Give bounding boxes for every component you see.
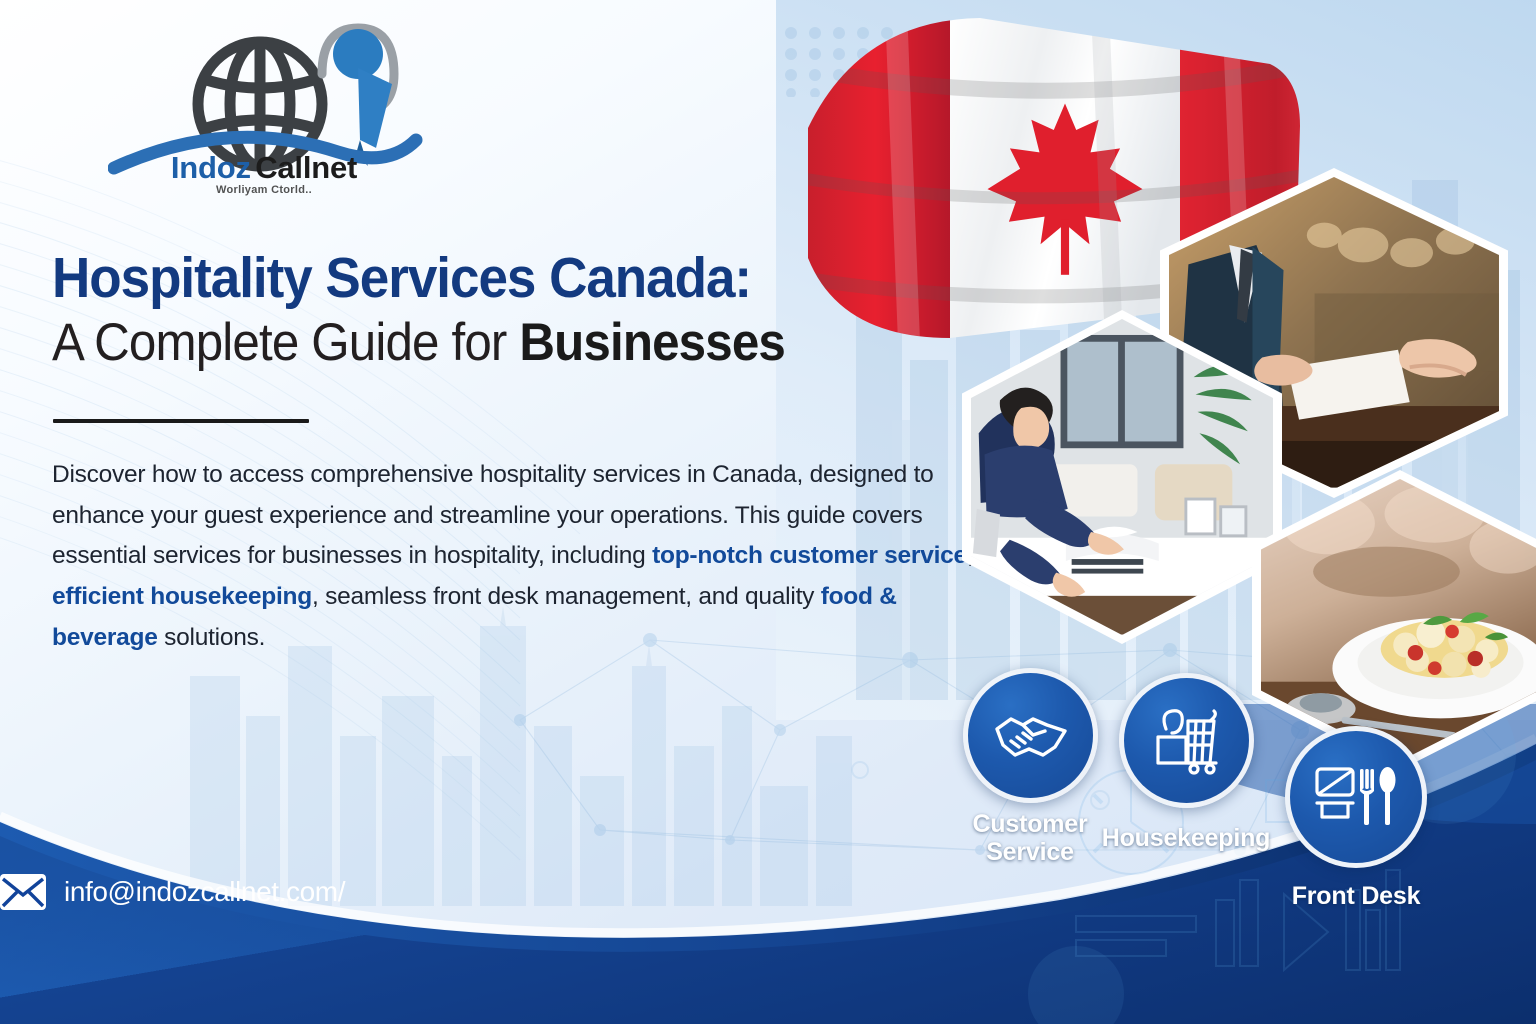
logo-name-primary: Indoz bbox=[171, 150, 251, 185]
highlight-customer-service: top-notch customer service bbox=[652, 542, 967, 569]
body-text-4: solutions. bbox=[158, 624, 266, 651]
logo-name-secondary: Callnet bbox=[255, 150, 357, 185]
headline-line-1: Hospitality Services Canada: bbox=[52, 248, 852, 308]
body-text-3: , seamless front desk management, and qu… bbox=[312, 583, 821, 610]
logo-wordmark: Indoz Callnet Worliyam Ctorld.. bbox=[114, 152, 414, 196]
cleaning-cart-icon bbox=[1150, 705, 1224, 777]
housekeeping-circle bbox=[1119, 673, 1254, 808]
food-beverage-photo bbox=[1252, 470, 1536, 770]
headline-line-2-strong: Businesses bbox=[519, 313, 785, 372]
service-badge-housekeeping[interactable]: Housekeeping bbox=[1119, 673, 1286, 852]
title-divider-rule bbox=[53, 419, 309, 423]
company-logo[interactable]: Indoz Callnet Worliyam Ctorld.. bbox=[108, 12, 428, 212]
contact-email[interactable]: info@indozcallnet.com/ bbox=[0, 874, 1536, 910]
front-desk-circle bbox=[1285, 726, 1427, 868]
poster-canvas: Indoz Callnet Worliyam Ctorld.. Hospital… bbox=[0, 0, 1536, 1024]
headline-line-2: A Complete Guide for Businesses bbox=[52, 314, 852, 371]
customer-service-circle bbox=[963, 668, 1098, 803]
headline-line-2-normal: A Complete Guide for bbox=[52, 313, 519, 372]
housekeeping-photo-art bbox=[971, 319, 1273, 635]
housekeeping-label: Housekeeping bbox=[1086, 824, 1286, 852]
logo-tagline: Worliyam Ctorld.. bbox=[114, 185, 414, 196]
housekeeping-bed-photo bbox=[962, 310, 1282, 644]
page-title: Hospitality Services Canada: A Complete … bbox=[52, 248, 912, 372]
email-address: info@indozcallnet.com/ bbox=[64, 876, 345, 908]
handshake-icon bbox=[993, 705, 1069, 767]
footer-contact-bar: India (+91) 769 676 5383 Canada (+1) 416… bbox=[0, 874, 1536, 1024]
highlight-housekeeping: efficient housekeeping bbox=[52, 583, 312, 610]
food-photo-art bbox=[1261, 479, 1536, 761]
envelope-icon bbox=[0, 874, 46, 910]
tray-fork-spoon-icon bbox=[1314, 765, 1398, 829]
body-paragraph: Discover how to access comprehensive hos… bbox=[52, 455, 992, 658]
